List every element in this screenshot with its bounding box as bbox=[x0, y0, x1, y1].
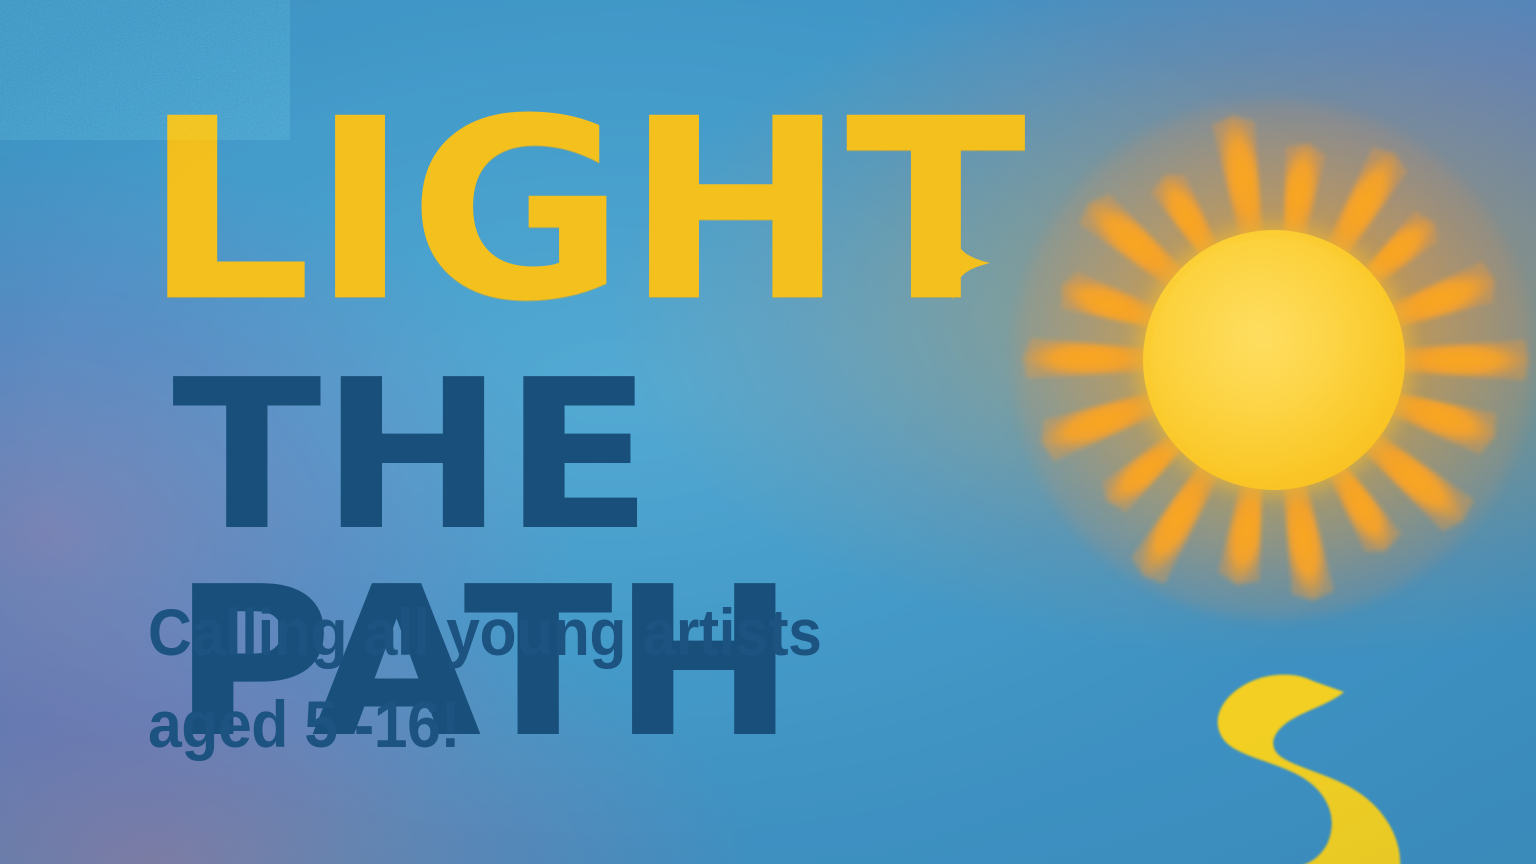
poster-canvas: LIGHT THE PATH Calling all young artists… bbox=[0, 0, 1536, 864]
subtitle-line-2: aged 5 -16! bbox=[148, 678, 958, 770]
winding-path-icon bbox=[1100, 636, 1536, 864]
subtitle: Calling all young artists aged 5 -16! bbox=[148, 586, 958, 770]
sun-disc bbox=[1143, 230, 1405, 490]
subtitle-line-1: Calling all young artists bbox=[148, 586, 958, 678]
headline-line-1: LIGHT bbox=[143, 86, 1025, 336]
poster-copy: LIGHT THE PATH Calling all young artists… bbox=[0, 0, 1100, 864]
winding-path bbox=[1100, 636, 1536, 864]
